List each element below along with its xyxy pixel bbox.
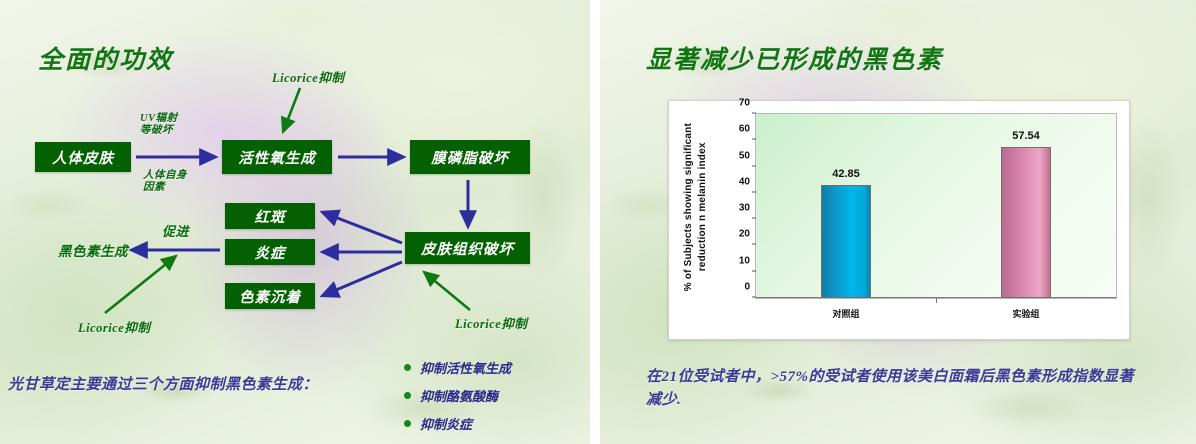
chart-y-tick-label: 20 [739,229,750,240]
flow-box-erythema[interactable]: 红斑 [225,203,315,229]
chart-y-tick-label: 30 [739,203,750,214]
chart-y-tick-mark [752,191,756,192]
label-melanin-formation: 黑色素生成 [58,240,128,260]
label-licorice-inhibit-bottom-left: Licorice抑制 [78,317,150,336]
chart-x-category-label: 对照组 [832,307,859,320]
right-slide-title: 显著减少已形成的黑色素 [646,40,943,76]
arrow-tissue-to-pigmentation [322,262,402,296]
chart-y-axis-title: % of Subjects showing significant reduct… [679,109,713,305]
label-self-factor-line1: 人体自身 [143,170,187,182]
label-licorice-inhibit-top: Licorice抑制 [272,67,344,86]
list-item: 抑制酪氨酸酶 [404,386,511,405]
chart-x-tick-separator [936,298,937,303]
chart-y-tick-label: 70 [739,98,750,109]
slide-pair-canvas: 全面的功效 [0,0,1196,444]
bullet-dot-icon [404,392,411,399]
list-item: 抑制炎症 [404,414,511,433]
chart-y-tick-label: 40 [739,176,750,187]
bullet-label: 抑制酪氨酸酶 [420,386,498,405]
chart-plot-wrapper: 01020304050607042.85对照组57.54实验组 [755,113,1117,299]
y-axis-title-line1: % of Subjects showing significant [683,123,694,291]
flow-box-inflammation[interactable]: 炎症 [225,239,315,265]
arrow-licorice-inhibit-melanin-path [105,256,176,313]
arrow-licorice-inhibit-ros [283,88,300,132]
chart-bar-1[interactable]: 42.85 [821,185,871,298]
bullet-label: 抑制炎症 [420,414,472,433]
right-slide-caption: 在21位受试者中，>57%的受试者使用该美白面霜后黑色素形成指数显著减少. [646,366,1146,412]
chart-y-tick-mark [752,165,756,166]
label-licorice-inhibit-bottom-right: Licorice抑制 [455,313,527,332]
chart-y-tick-label: 60 [739,124,750,135]
bullet-dot-icon [404,420,411,427]
chart-y-tick-mark [752,113,756,114]
list-item: 抑制活性氧生成 [404,358,511,377]
y-axis-title-line2: reduction n melanin index [697,143,708,272]
chart-bar-2[interactable]: 57.54 [1001,147,1051,298]
chart-y-tick-mark [752,270,756,271]
chart-x-category-label: 实验组 [1012,307,1039,320]
flow-box-skin-tissue-damage[interactable]: 皮肤组织破坏 [405,232,530,264]
flow-box-membrane-lipid-damage[interactable]: 膜磷脂破坏 [410,140,530,174]
label-self-factor: 人体自身 因素 [143,170,187,194]
chart-y-tick-mark [752,297,756,298]
label-uv-damage-line2: 等破坏 [140,125,178,137]
left-slide-title: 全面的功效 [38,40,173,76]
chart-y-tick-mark [752,218,756,219]
arrow-tissue-to-erythema [322,212,402,243]
right-slide: 显著减少已形成的黑色素 % of Subjects showing signif… [600,0,1196,444]
melanin-reduction-bar-chart: % of Subjects showing significant reduct… [668,100,1130,340]
chart-y-tick-label: 50 [739,150,750,161]
left-slide: 全面的功效 [0,0,590,444]
chart-y-tick-label: 10 [739,255,750,266]
flow-box-ros-generation[interactable]: 活性氧生成 [222,140,332,174]
label-promote: 促进 [162,221,189,240]
arrow-licorice-inhibit-tissue [424,272,470,310]
chart-plot-area: 01020304050607042.85对照组57.54实验组 [755,113,1117,299]
label-uv-damage-line1: UV辐射 [140,113,178,125]
chart-y-tick-mark [752,244,756,245]
flow-box-human-skin[interactable]: 人体皮肤 [35,142,131,172]
chart-y-tick-label: 0 [744,282,750,293]
left-slide-caption: 光甘草定主要通过三个方面抑制黑色素生成： [8,373,318,394]
slide-separator [590,0,600,444]
bullet-dot-icon [404,364,411,371]
mechanism-bullet-list: 抑制活性氧生成 抑制酪氨酸酶 抑制炎症 [404,358,511,442]
flow-box-pigmentation[interactable]: 色素沉着 [225,283,315,309]
label-uv-damage: UV辐射 等破坏 [140,113,178,137]
chart-y-tick-mark [752,139,756,140]
bullet-label: 抑制活性氧生成 [420,358,511,377]
chart-bar-value-label: 57.54 [1012,130,1040,142]
label-self-factor-line2: 因素 [143,182,187,194]
chart-bar-value-label: 42.85 [832,168,860,180]
